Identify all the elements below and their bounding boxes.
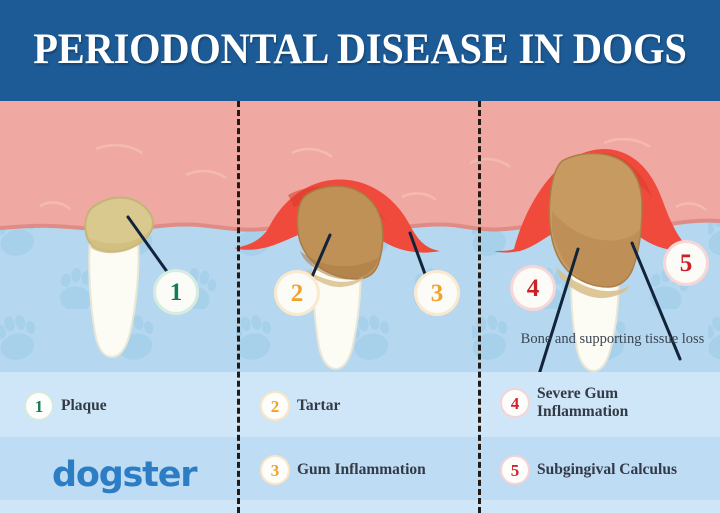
legend-number-2: 2	[262, 393, 288, 419]
legend-label-3: Gum Inflammation	[297, 461, 426, 479]
legend-item-plaque: 1 Plaque	[26, 393, 107, 419]
legend-item-gum-inflammation: 3 Gum Inflammation	[262, 457, 426, 483]
legend-item-tartar: 2 Tartar	[262, 393, 340, 419]
legend-item-severe-gum-inflammation: 4 Severe Gum Inflammation	[502, 385, 628, 421]
callout-bubble-2: 2	[277, 273, 317, 313]
page-title: PERIODONTAL DISEASE IN DOGS	[22, 26, 699, 74]
header-bar: PERIODONTAL DISEASE IN DOGS	[0, 0, 720, 101]
legend-label-4-line1: Severe Gum	[537, 385, 618, 402]
bone-loss-caption: Bone and supporting tissue loss	[515, 331, 710, 348]
legend-label-4: Severe Gum Inflammation	[537, 385, 628, 421]
legend-number-5: 5	[502, 457, 528, 483]
callout-bubble-3: 3	[417, 273, 457, 313]
legend-number-1: 1	[26, 393, 52, 419]
callout-bubble-5: 5	[666, 243, 706, 283]
legend-label-4-line2: Inflammation	[537, 403, 628, 420]
legend-label-1: Plaque	[61, 397, 107, 415]
dogster-logo[interactable]: dogster	[52, 455, 196, 495]
callout-bubble-1: 1	[156, 272, 196, 312]
panel-divider-left	[237, 101, 240, 513]
legend-label-2: Tartar	[297, 397, 340, 415]
legend-item-subgingival-calculus: 5 Subgingival Calculus	[502, 457, 677, 483]
callout-bubble-4: 4	[513, 268, 553, 308]
infographic-root: PERIODONTAL DISEASE IN DOGS 1 2 3 4 5 Bo…	[0, 0, 720, 513]
panel-divider-right	[478, 101, 481, 513]
legend-number-3: 3	[262, 457, 288, 483]
legend-label-5: Subgingival Calculus	[537, 461, 677, 479]
legend-number-4: 4	[502, 390, 528, 416]
legend-band-footer	[0, 500, 720, 513]
